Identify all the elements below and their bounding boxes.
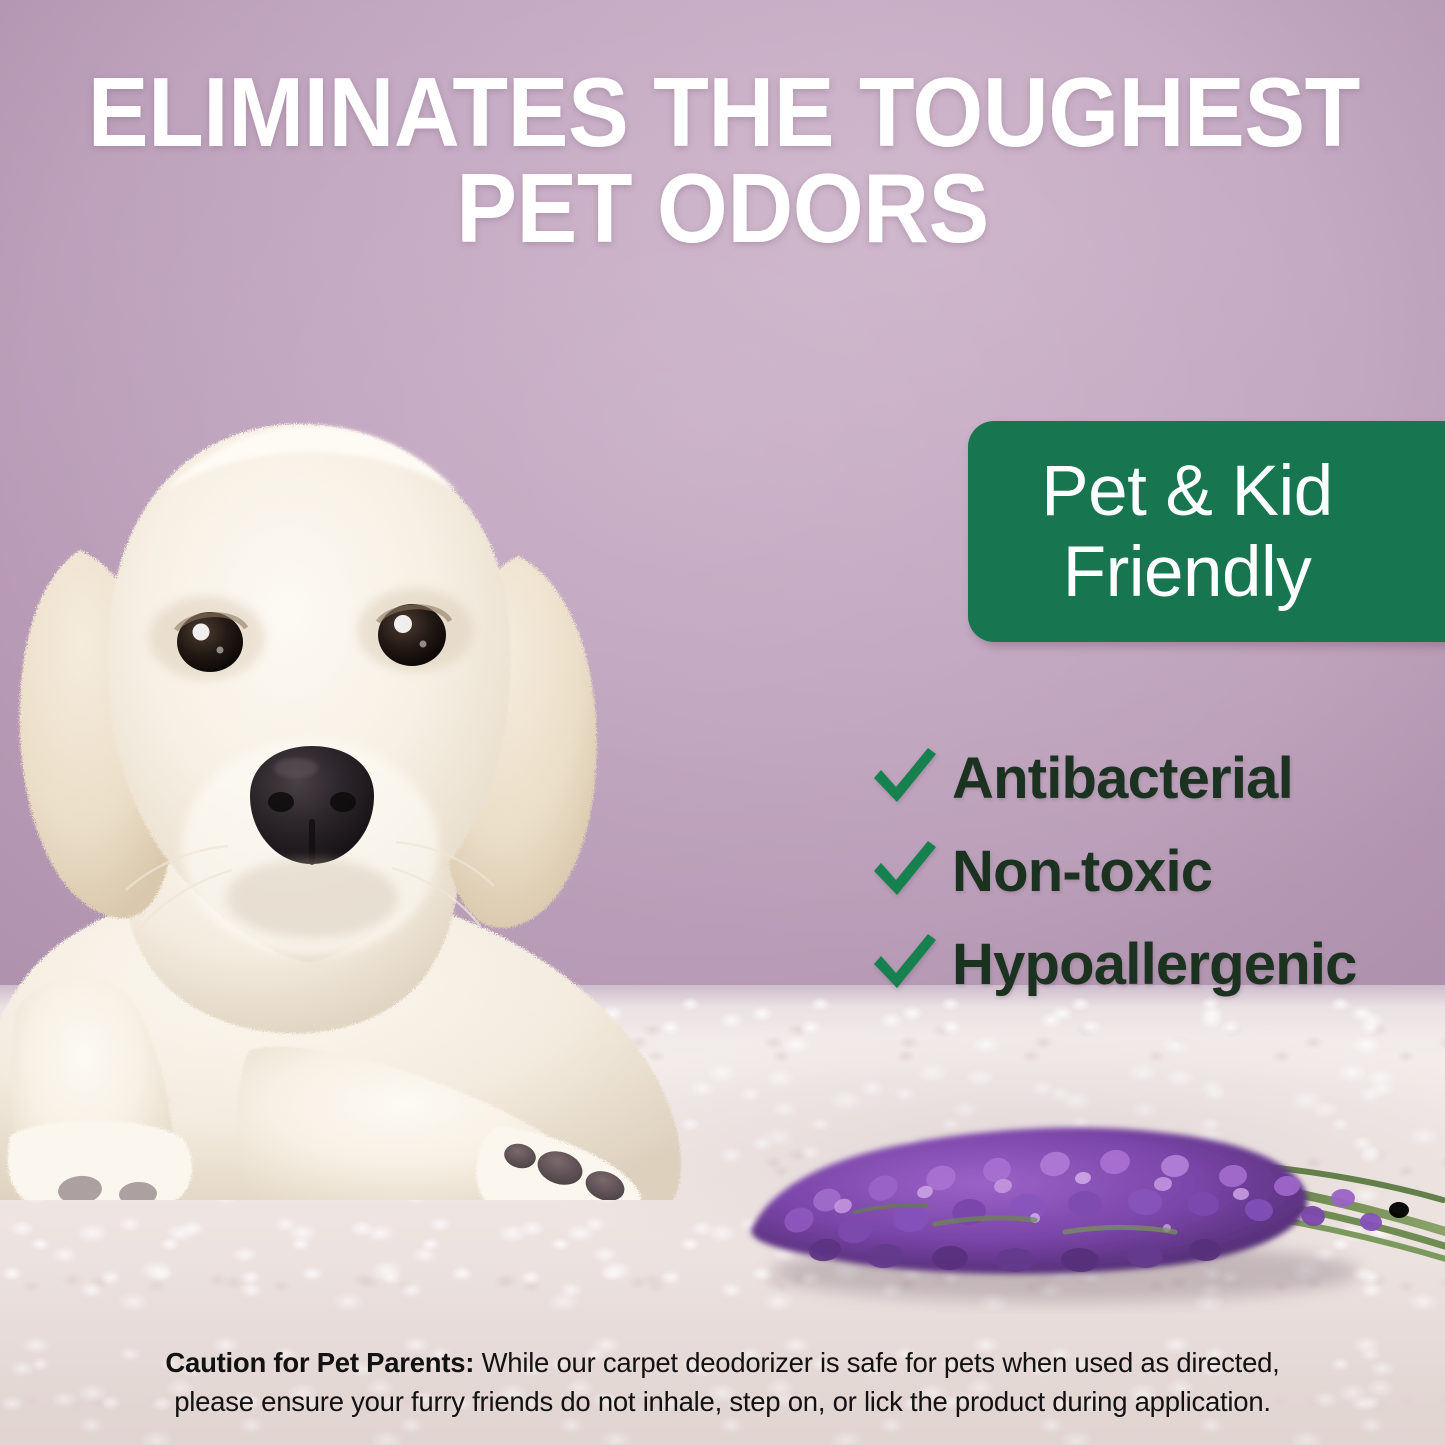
golden-retriever-puppy-image: [0, 250, 910, 1200]
feature-item-non-toxic: Non-toxic: [868, 826, 1428, 918]
page-title: ELIMINATES THE TOUGHEST PET ODORS: [88, 64, 1357, 256]
badge-line-2: Friendly: [1002, 532, 1372, 613]
caution-note: Caution for Pet Parents: While our carpe…: [0, 1343, 1445, 1421]
caution-line-2: please ensure your furry friends do not …: [40, 1382, 1405, 1421]
feature-list: Antibacterial Non-toxic Hypoallergenic: [868, 733, 1428, 1012]
feature-label: Hypoallergenic: [952, 934, 1357, 996]
feature-label: Antibacterial: [952, 748, 1293, 810]
headline-line-2: PET ODORS: [88, 160, 1357, 256]
caution-heading: Caution for Pet Parents:: [165, 1347, 474, 1378]
product-banner: ELIMINATES THE TOUGHEST PET ODORS Pet & …: [0, 0, 1445, 1445]
feature-item-hypoallergenic: Hypoallergenic: [868, 919, 1428, 1011]
badge-text: Pet & Kid Friendly: [1002, 451, 1372, 613]
badge-line-1: Pet & Kid: [1002, 451, 1372, 532]
check-icon: [868, 837, 940, 907]
caution-line-1-rest: While our carpet deodorizer is safe for …: [474, 1347, 1279, 1378]
pet-kid-friendly-badge: Pet & Kid Friendly: [968, 421, 1445, 642]
headline-line-1: ELIMINATES THE TOUGHEST: [88, 64, 1357, 160]
feature-label: Non-toxic: [952, 841, 1212, 903]
caution-line-1: Caution for Pet Parents: While our carpe…: [40, 1343, 1405, 1382]
feature-item-antibacterial: Antibacterial: [868, 733, 1428, 825]
check-icon: [868, 930, 940, 1000]
lavender-flowers-image: [735, 1060, 1445, 1330]
check-icon: [868, 744, 940, 814]
